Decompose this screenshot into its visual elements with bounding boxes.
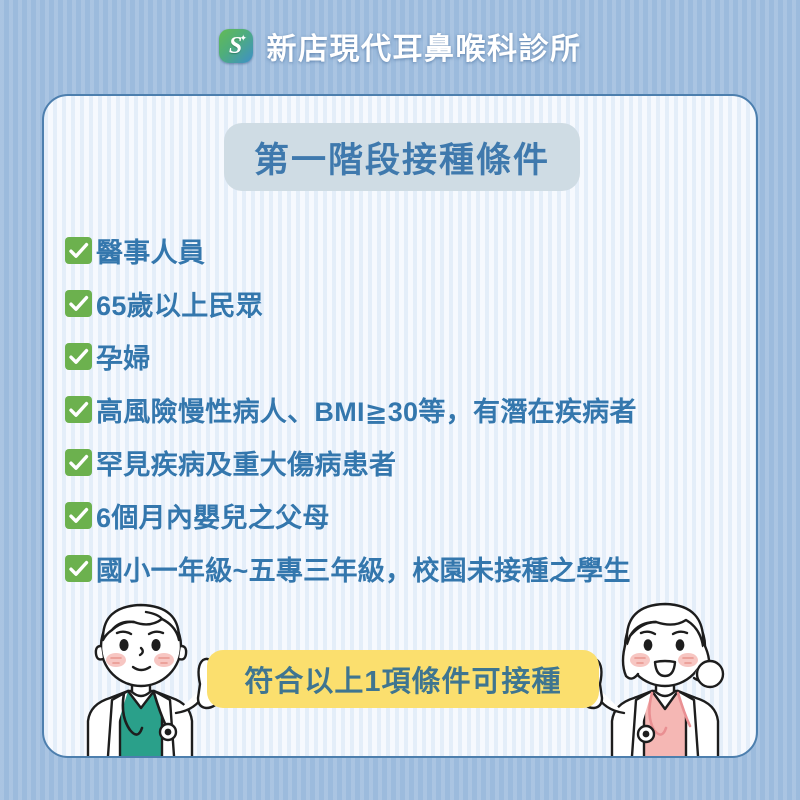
section-title-banner: 第一階段接種條件	[224, 123, 580, 191]
clinic-s-logo-icon: S ✦	[219, 29, 253, 63]
check-mark-icon	[65, 555, 92, 582]
list-item: 6個月內嬰兒之父母	[65, 489, 755, 542]
list-item: 高風險慢性病人、BMI≧30等，有潛在疾病者	[65, 383, 755, 436]
clinic-name-title: 新店現代耳鼻喉科診所	[267, 24, 582, 68]
check-mark-icon	[65, 237, 92, 264]
eligibility-note-banner: 符合以上1項條件可接種	[207, 650, 599, 708]
list-item-label: 高風險慢性病人、BMI≧30等，有潛在疾病者	[96, 390, 637, 429]
eligibility-checklist: 醫事人員 65歲以上民眾 孕婦 高風險慢性病人、BMI≧30等，有潛在疾病者 罕…	[65, 224, 755, 595]
list-item: 醫事人員	[65, 224, 755, 277]
section-title-text: 第一階段接種條件	[254, 132, 550, 183]
list-item-label: 孕婦	[96, 337, 151, 376]
list-item: 孕婦	[65, 330, 755, 383]
list-item-label: 65歲以上民眾	[96, 284, 263, 323]
check-mark-icon	[65, 343, 92, 370]
check-mark-icon	[65, 396, 92, 423]
list-item: 罕見疾病及重大傷病患者	[65, 436, 755, 489]
check-mark-icon	[65, 502, 92, 529]
list-item-label: 國小一年級~五專三年級，校園未接種之學生	[96, 549, 631, 588]
eligibility-note-text: 符合以上1項條件可接種	[244, 658, 561, 700]
list-item-label: 罕見疾病及重大傷病患者	[96, 443, 396, 482]
list-item-label: 6個月內嬰兒之父母	[96, 496, 330, 535]
clinic-header: S ✦ 新店現代耳鼻喉科診所	[0, 0, 800, 92]
check-mark-icon	[65, 449, 92, 476]
list-item-label: 醫事人員	[96, 231, 205, 270]
check-mark-icon	[65, 290, 92, 317]
sparkle-icon: ✦	[240, 35, 247, 42]
list-item: 65歲以上民眾	[65, 277, 755, 330]
info-card: 第一階段接種條件 醫事人員 65歲以上民眾 孕婦 高風險慢性病人、BMI≧30等…	[42, 94, 758, 758]
